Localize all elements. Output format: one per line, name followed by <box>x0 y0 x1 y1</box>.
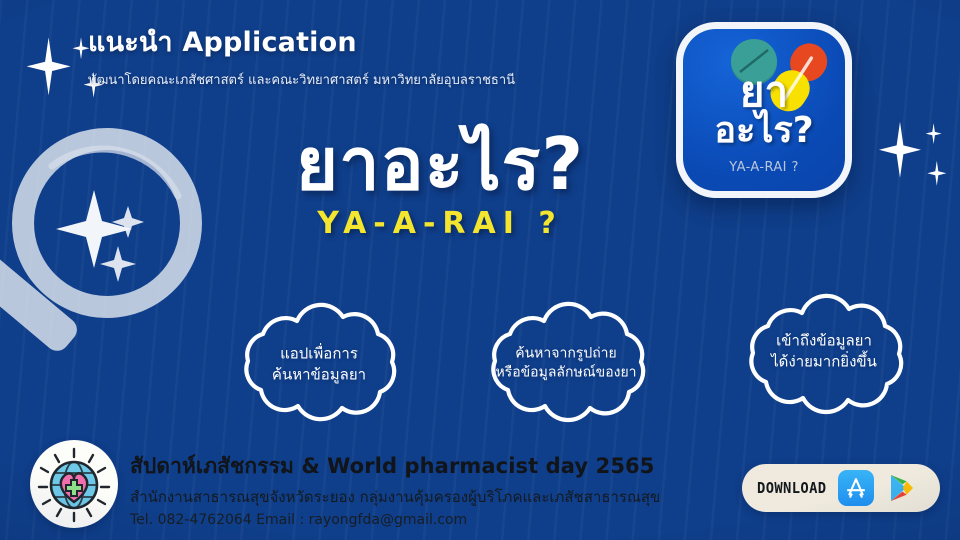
cloud-2-line2: หรือข้อมูลลักษณ์ของยา <box>460 364 672 383</box>
hero-title-block: ยาอะไร? YA-A-RAI ? <box>225 128 655 241</box>
footer-line-2: สำนักงานสาธารณสุขจังหวัดระยอง กลุ่มงานคุ… <box>130 485 660 509</box>
header-title: แนะนำ Application <box>88 20 515 63</box>
cloud-1-line2: ค้นหาข้อมูลยา <box>215 364 423 385</box>
organization-logo <box>30 440 118 528</box>
cloud-2-line1: ค้นหาจากรูปถ่าย <box>460 345 672 364</box>
cloud-1-text: แอปเพื่อการ ค้นหาข้อมูลยา <box>215 343 423 384</box>
app-store-glyph <box>843 475 869 501</box>
download-label: DOWNLOAD <box>757 479 826 497</box>
cloud-3-line1: เข้าถึงข้อมูลยา <box>718 330 930 351</box>
play-store-glyph <box>884 471 918 505</box>
hero-title-thai: ยาอะไร? <box>225 128 655 200</box>
app-icon-line2: อะไร? <box>683 113 845 149</box>
magnifier-graphic <box>0 118 232 398</box>
footer-line-1: สัปดาห์เภสัชกรรม & World pharmacist day … <box>130 450 660 483</box>
download-pill[interactable]: DOWNLOAD <box>742 464 940 512</box>
google-play-icon[interactable] <box>883 470 919 506</box>
globe-heart-cross-icon <box>30 440 118 528</box>
poster-canvas: แนะนำ Application พัฒนาโดยคณะเภสัชศาสตร์… <box>0 0 960 540</box>
magnifier-icon <box>0 118 232 398</box>
cloud-bubble-3: เข้าถึงข้อมูลยา ได้ง่ายมากยิ่งขึ้น <box>718 292 930 420</box>
hero-title-roman: YA-A-RAI ? <box>225 206 655 241</box>
cloud-bubble-2: ค้นหาจากรูปถ่าย หรือข้อมูลลักษณ์ของยา <box>460 300 672 428</box>
footer-text-block: สัปดาห์เภสัชกรรม & World pharmacist day … <box>130 450 660 528</box>
app-icon-inner: ยา อะไร? YA-A-RAI ? <box>683 29 845 191</box>
cloud-bubble-1: แอปเพื่อการ ค้นหาข้อมูลยา <box>215 300 423 428</box>
cloud-3-line2: ได้ง่ายมากยิ่งขึ้น <box>718 351 930 372</box>
app-icon-line1: ยา <box>683 71 845 113</box>
cloud-1-line1: แอปเพื่อการ <box>215 343 423 364</box>
app-icon[interactable]: ยา อะไร? YA-A-RAI ? <box>676 22 852 198</box>
footer-line-3: Tel. 082-4762064 Email : rayongfda@gmail… <box>130 512 660 528</box>
apple-app-store-icon[interactable] <box>838 470 874 506</box>
cloud-2-text: ค้นหาจากรูปถ่าย หรือข้อมูลลักษณ์ของยา <box>460 345 672 384</box>
cloud-3-text: เข้าถึงข้อมูลยา ได้ง่ายมากยิ่งขึ้น <box>718 330 930 371</box>
app-icon-line3: YA-A-RAI ? <box>683 160 845 175</box>
sparkle-cluster-top-right <box>876 112 956 202</box>
header-block: แนะนำ Application พัฒนาโดยคณะเภสัชศาสตร์… <box>88 20 515 90</box>
header-subtitle: พัฒนาโดยคณะเภสัชศาสตร์ และคณะวิทยาศาสตร์… <box>88 69 515 90</box>
